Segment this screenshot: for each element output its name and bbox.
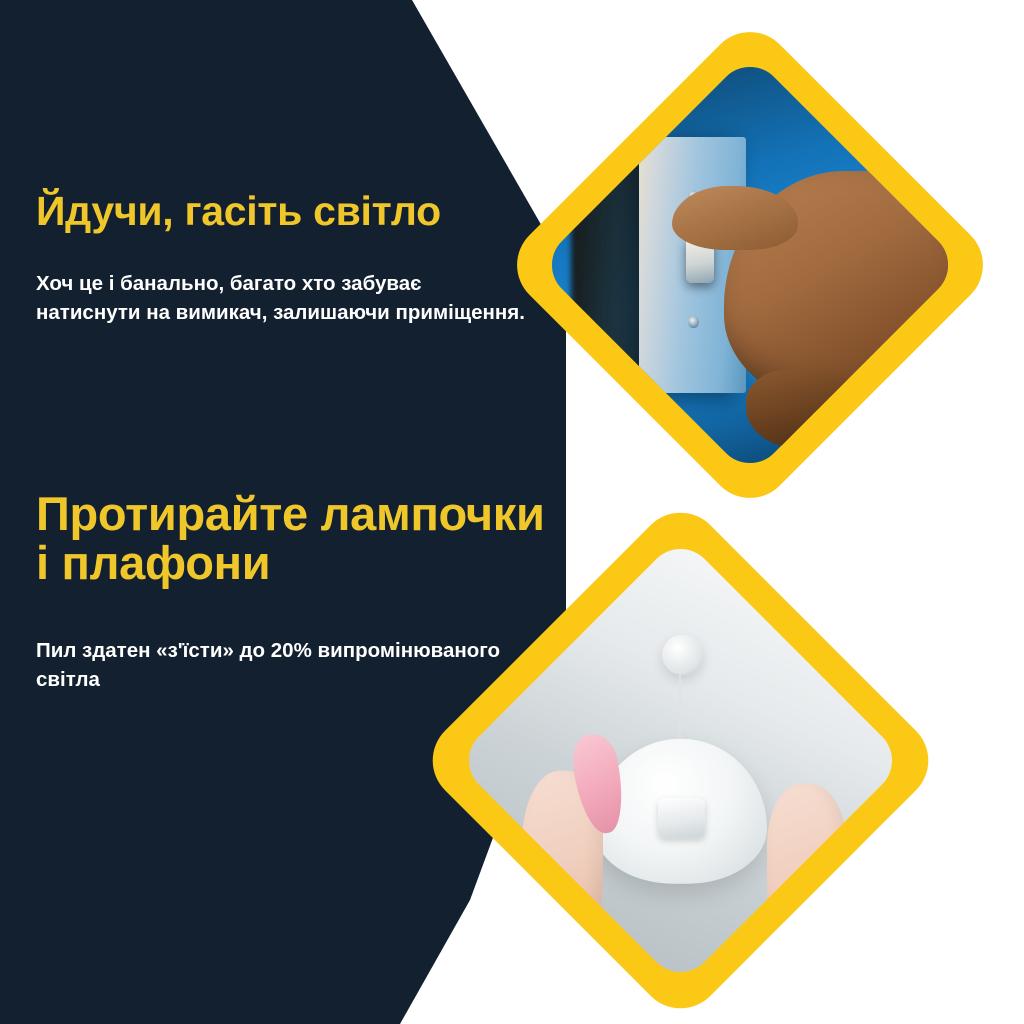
headline-turn-off-lights: Йдучи, гасіть світло [36,190,526,233]
tip-block-clean-bulbs: Протирайте лампочки і плафони Пил здатен… [36,490,556,695]
body-turn-off-lights: Хоч це і банально, багато хто забуває на… [36,269,526,328]
headline-clean-bulbs: Протирайте лампочки і плафони [36,490,556,588]
lamp-cord [680,670,682,747]
body-clean-bulbs: Пил здатен «з'їсти» до 20% випромінювано… [36,636,556,695]
switch-screw-bottom [688,316,699,328]
infographic-poster: Йдучи, гасіть світло Хоч це і банально, … [0,0,1024,1024]
tip-block-turn-off-lights: Йдучи, гасіть світло Хоч це і банально, … [36,190,526,328]
index-finger [672,186,799,250]
ceiling-canopy [662,634,703,675]
lamp-socket [658,797,706,838]
